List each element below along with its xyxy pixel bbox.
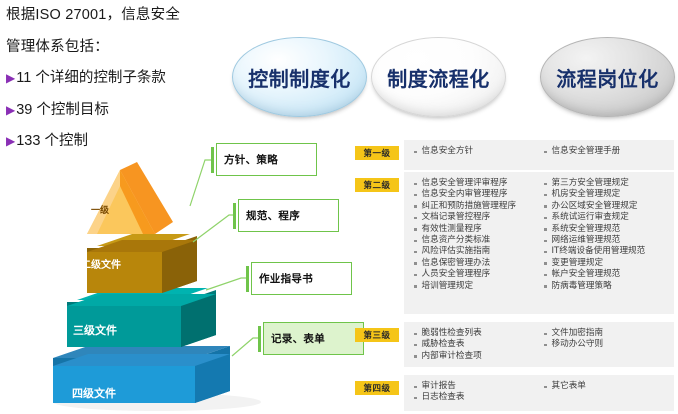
list-item: 系统安全管理规范 xyxy=(544,224,645,235)
list-item: 有效性测量程序 xyxy=(414,224,516,235)
tier-3-right-column: 文件加密指南 移动办公守则 xyxy=(544,328,603,351)
list-item-label: 有效性测量程序 xyxy=(422,224,482,235)
intro-bullet-1: ▶ 11 个详细的控制子条款 xyxy=(6,71,231,86)
bullet-dot-icon xyxy=(544,274,547,277)
list-item-label: 机房安全管理规定 xyxy=(552,189,621,200)
callout-work-instruction: 作业指导书 xyxy=(251,262,352,295)
list-item-label: 第三方安全管理规定 xyxy=(552,178,629,189)
bullet-dot-icon xyxy=(414,386,417,389)
list-item: 信息安全方针 xyxy=(414,146,473,157)
list-item-label: 信息资产分类标准 xyxy=(422,235,491,246)
list-item-label: 信息安全方针 xyxy=(422,146,474,157)
list-item-label: 网络运维管理规范 xyxy=(552,235,621,246)
ellipse-process-positionization: 流程岗位化 xyxy=(540,37,675,117)
tier-3-badge: 第三级 xyxy=(355,328,399,342)
pyramid-level-2-label: 二级文件 xyxy=(81,256,121,271)
intro-bullet-3-label: 133 个控制 xyxy=(16,134,88,149)
list-item: 机房安全管理规定 xyxy=(544,189,645,200)
pyramid-graphic xyxy=(45,150,265,412)
bullet-dot-icon xyxy=(544,205,547,208)
bullet-dot-icon xyxy=(414,228,417,231)
pyramid-level-1-label: 一级 xyxy=(91,203,109,216)
list-item: 变更管理规定 xyxy=(544,258,645,269)
list-item: 纠正和预防措施管理程序 xyxy=(414,201,516,212)
list-item-label: 日志检查表 xyxy=(422,392,465,403)
tier-1-panel: 信息安全方针 信息安全管理手册 xyxy=(404,140,674,170)
list-item-label: 风险评估实施指南 xyxy=(422,246,491,257)
tier-4-left-column: 审计报告 日志检查表 xyxy=(414,381,464,404)
list-item-label: 威胁检查表 xyxy=(422,339,465,350)
tier-2-panel: 信息安全管理评审程序 信息安全内审管理程序 纠正和预防措施管理程序 文档记录管控… xyxy=(404,172,674,314)
list-item: 培训管理规定 xyxy=(414,281,516,292)
bullet-dot-icon xyxy=(544,344,547,347)
bullet-dot-icon xyxy=(544,333,547,336)
bullet-dot-icon xyxy=(414,183,417,186)
list-item-label: 办公区域安全管理规定 xyxy=(552,201,638,212)
bullet-dot-icon xyxy=(544,183,547,186)
bullet-dot-icon xyxy=(414,355,417,358)
intro-text-block: 根据ISO 27001，信息安全 管理体系包括： ▶ 11 个详细的控制子条款 … xyxy=(6,8,231,166)
tier-4-badge: 第四级 xyxy=(355,381,399,395)
bullet-dot-icon xyxy=(544,217,547,220)
list-item-label: 信息安全管理手册 xyxy=(552,146,621,157)
list-item: 网络运维管理规范 xyxy=(544,235,645,246)
triangle-bullet-icon: ▶ xyxy=(6,104,15,116)
bullet-dot-icon xyxy=(544,386,547,389)
list-item-label: 文档记录管控程序 xyxy=(422,212,491,223)
list-item: 信息资产分类标准 xyxy=(414,235,516,246)
list-item: 人员安全管理程序 xyxy=(414,269,516,280)
tier-3-panel: 脆弱性检查列表 威胁检查表 内部审计检查项 文件加密指南 移动办公守则 xyxy=(404,322,674,367)
list-item-label: 培训管理规定 xyxy=(422,281,474,292)
bullet-dot-icon xyxy=(544,228,547,231)
bullet-dot-icon xyxy=(414,251,417,254)
list-item: 帐户安全管理规范 xyxy=(544,269,645,280)
triangle-bullet-icon: ▶ xyxy=(6,135,15,147)
callout-2-stub xyxy=(233,203,236,229)
list-item: 脆弱性检查列表 xyxy=(414,328,482,339)
list-item-label: 信息安全内审管理程序 xyxy=(422,189,508,200)
list-item: 其它表单 xyxy=(544,381,586,392)
document-hierarchy-pyramid: 一级 二级文件 三级文件 四级文件 xyxy=(45,150,265,412)
bullet-dot-icon xyxy=(414,285,417,288)
list-item: 信息安全管理评审程序 xyxy=(414,178,516,189)
list-item-label: 变更管理规定 xyxy=(552,258,604,269)
bullet-dot-icon xyxy=(544,151,547,154)
tier-1-badge: 第一级 xyxy=(355,146,399,160)
list-item-label: 纠正和预防措施管理程序 xyxy=(422,201,517,212)
tier-2-left-column: 信息安全管理评审程序 信息安全内审管理程序 纠正和预防措施管理程序 文档记录管控… xyxy=(414,178,516,292)
bullet-dot-icon xyxy=(414,344,417,347)
list-item-label: 审计报告 xyxy=(422,381,456,392)
list-item: 防病毒管理策略 xyxy=(544,281,645,292)
list-item: 办公区域安全管理规定 xyxy=(544,201,645,212)
slide-canvas: 根据ISO 27001，信息安全 管理体系包括： ▶ 11 个详细的控制子条款 … xyxy=(0,0,678,414)
intro-bullet-2: ▶ 39 个控制目标 xyxy=(6,103,231,118)
list-item: 信息保密管理办法 xyxy=(414,258,516,269)
bullet-dot-icon xyxy=(414,333,417,336)
list-item-label: 信息保密管理办法 xyxy=(422,258,491,269)
list-item-label: 人员安全管理程序 xyxy=(422,269,491,280)
tier-1-left-column: 信息安全方针 xyxy=(414,146,473,157)
callout-3-stub xyxy=(246,266,249,292)
bullet-dot-icon xyxy=(414,194,417,197)
list-item-label: 防病毒管理策略 xyxy=(552,281,612,292)
ellipse-control-institutionalization: 控制制度化 xyxy=(232,37,367,117)
list-item: IT终端设备使用管理规范 xyxy=(544,246,645,257)
callout-record-form: 记录、表单 xyxy=(263,322,364,355)
tier-2-badge: 第二级 xyxy=(355,178,399,192)
pyramid-level-3-label: 三级文件 xyxy=(73,322,117,338)
list-item: 威胁检查表 xyxy=(414,339,482,350)
tier-3-left-column: 脆弱性检查列表 威胁检查表 内部审计检查项 xyxy=(414,328,482,362)
list-item-label: 系统安全管理规范 xyxy=(552,224,621,235)
intro-bullet-1-label: 11 个详细的控制子条款 xyxy=(16,71,166,86)
bullet-dot-icon xyxy=(414,397,417,400)
callout-standard-procedure: 规范、程序 xyxy=(238,199,339,232)
list-item-label: 脆弱性检查列表 xyxy=(422,328,482,339)
callout-4-stub xyxy=(258,326,261,352)
pyramid-level-4-label: 四级文件 xyxy=(72,385,116,401)
intro-bullet-2-label: 39 个控制目标 xyxy=(16,103,109,118)
bullet-dot-icon xyxy=(414,205,417,208)
list-item: 日志检查表 xyxy=(414,392,464,403)
list-item-label: 系统试运行审查规定 xyxy=(552,212,629,223)
list-item: 系统试运行审查规定 xyxy=(544,212,645,223)
list-item: 第三方安全管理规定 xyxy=(544,178,645,189)
list-item: 文件加密指南 xyxy=(544,328,603,339)
list-item-label: 内部审计检查项 xyxy=(422,351,482,362)
list-item: 内部审计检查项 xyxy=(414,351,482,362)
callout-policy-strategy: 方针、策略 xyxy=(216,143,317,176)
ellipse-institution-processization: 制度流程化 xyxy=(371,37,506,117)
bullet-dot-icon xyxy=(544,262,547,265)
list-item-label: IT终端设备使用管理规范 xyxy=(552,246,646,257)
list-item: 文档记录管控程序 xyxy=(414,212,516,223)
list-item: 风险评估实施指南 xyxy=(414,246,516,257)
intro-bullet-3: ▶ 133 个控制 xyxy=(6,134,231,149)
tier-2-right-column: 第三方安全管理规定 机房安全管理规定 办公区域安全管理规定 系统试运行审查规定 … xyxy=(544,178,645,292)
tier-4-panel: 审计报告 日志检查表 其它表单 xyxy=(404,375,674,411)
list-item: 审计报告 xyxy=(414,381,464,392)
bullet-dot-icon xyxy=(414,240,417,243)
intro-line-1: 根据ISO 27001，信息安全 xyxy=(6,8,231,23)
bullet-dot-icon xyxy=(414,217,417,220)
tier-1-right-column: 信息安全管理手册 xyxy=(544,146,620,157)
bullet-dot-icon xyxy=(544,285,547,288)
list-item-label: 移动办公守则 xyxy=(552,339,604,350)
tier-4-right-column: 其它表单 xyxy=(544,381,586,392)
bullet-dot-icon xyxy=(414,262,417,265)
callout-1-stub xyxy=(211,147,214,173)
list-item: 移动办公守则 xyxy=(544,339,603,350)
triangle-bullet-icon: ▶ xyxy=(6,72,15,84)
intro-line-2: 管理体系包括： xyxy=(6,40,231,55)
list-item: 信息安全内审管理程序 xyxy=(414,189,516,200)
list-item-label: 信息安全管理评审程序 xyxy=(422,178,508,189)
bullet-dot-icon xyxy=(544,240,547,243)
bullet-dot-icon xyxy=(414,151,417,154)
bullet-dot-icon xyxy=(544,194,547,197)
list-item-label: 其它表单 xyxy=(552,381,586,392)
bullet-dot-icon xyxy=(414,274,417,277)
list-item-label: 帐户安全管理规范 xyxy=(552,269,621,280)
list-item: 信息安全管理手册 xyxy=(544,146,620,157)
bullet-dot-icon xyxy=(544,251,547,254)
list-item-label: 文件加密指南 xyxy=(552,328,604,339)
